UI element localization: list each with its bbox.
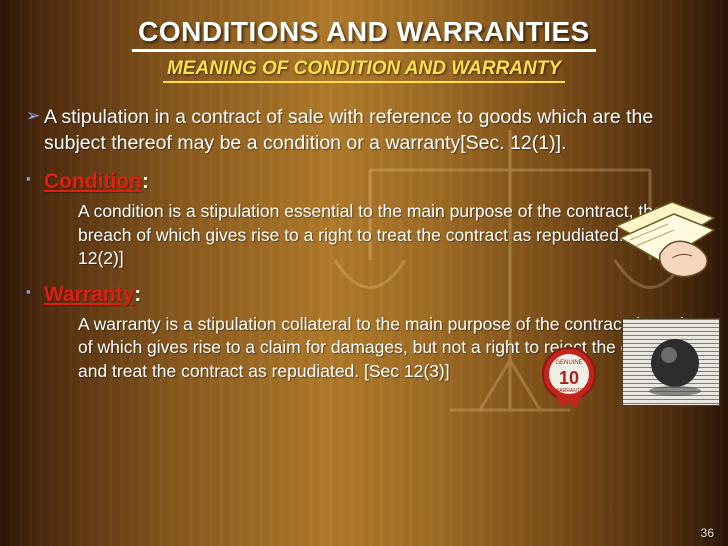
term-condition: Condition <box>44 170 142 193</box>
papers-and-hand-icon <box>610 196 718 282</box>
page-number: 36 <box>701 526 714 540</box>
term-colon: : <box>134 283 141 306</box>
bullet-heading: Warranty: <box>44 281 712 309</box>
term-colon: : <box>142 170 149 193</box>
list-item: ➢ A stipulation in a contract of sale wi… <box>18 104 712 156</box>
term-warranty: Warranty <box>44 283 134 306</box>
guarantee-seal-icon: GENUINE 10 WARRANTY <box>536 344 602 410</box>
bullet-square-icon: ▪ <box>18 281 44 303</box>
content-body: ➢ A stipulation in a contract of sale wi… <box>18 104 712 393</box>
list-item: ▪ Condition: <box>18 168 712 196</box>
globe-photo-icon <box>622 318 720 406</box>
title-block: CONDITIONS AND WARRANTIES MEANING OF CON… <box>0 16 728 83</box>
page-title: CONDITIONS AND WARRANTIES <box>132 16 596 52</box>
definition-warranty: A warranty is a stipulation collateral t… <box>78 313 698 383</box>
spacer <box>18 160 712 168</box>
page-subtitle: MEANING OF CONDITION AND WARRANTY <box>163 59 565 83</box>
seal-top-text: GENUINE <box>555 360 582 366</box>
bullet-square-icon: ▪ <box>18 168 44 190</box>
list-item: ▪ Warranty: <box>18 281 712 309</box>
bullet-text: A stipulation in a contract of sale with… <box>44 104 712 156</box>
seal-bottom-text: WARRANTY <box>555 388 584 394</box>
bullet-heading: Condition: <box>44 168 712 196</box>
bullet-arrow-icon: ➢ <box>18 104 44 128</box>
seal-number: 10 <box>559 368 579 388</box>
definition-condition: A condition is a stipulation essential t… <box>78 200 698 270</box>
slide: CONDITIONS AND WARRANTIES MEANING OF CON… <box>0 0 728 546</box>
